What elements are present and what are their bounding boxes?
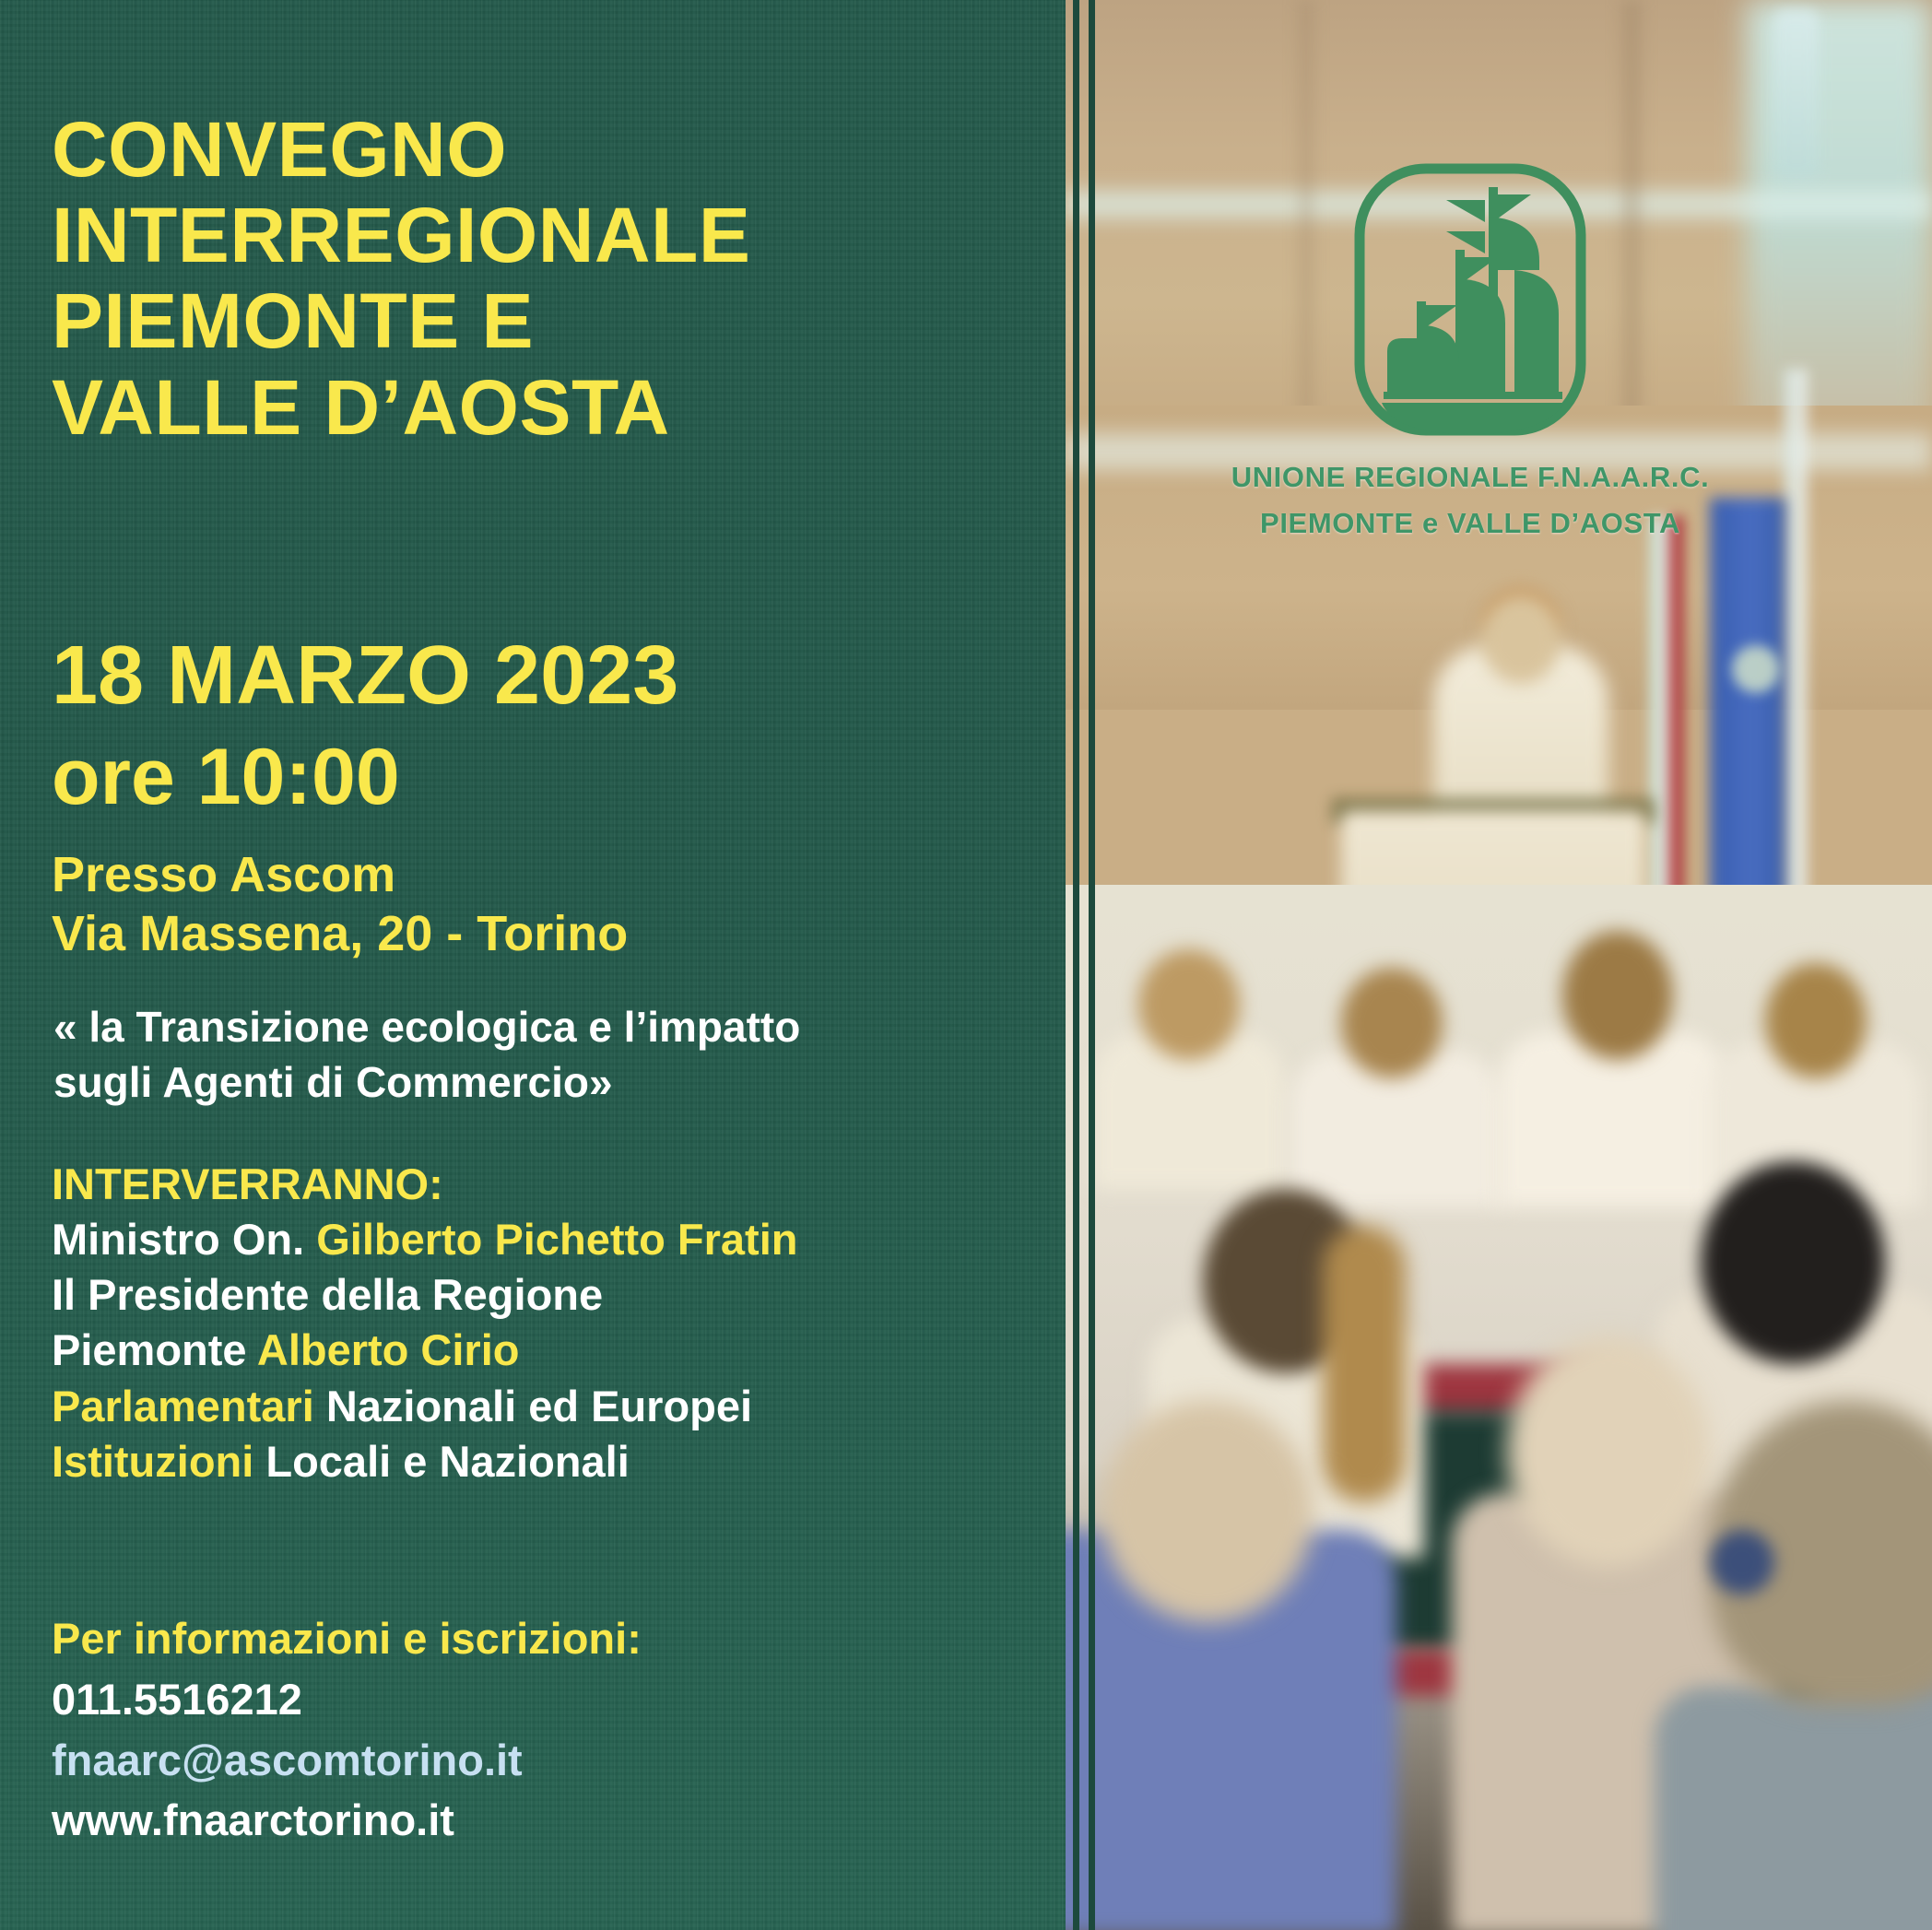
speaker-item: Piemonte Alberto Cirio [52,1323,1056,1378]
speaker-suffix: Locali e Nazionali [253,1437,629,1486]
speaker-name: Alberto Cirio [257,1325,520,1374]
fnaarc-logo: UNIONE REGIONALE F.N.A.A.R.C. PIEMONTE e… [1032,161,1908,540]
photo-attendee [1765,963,1867,1078]
speaker-role: Piemonte [52,1325,257,1374]
logo-line-1: UNIONE REGIONALE F.N.A.A.R.C. [1032,461,1908,494]
title-line-3: PIEMONTE E [52,277,534,364]
photo-speaker-head [1481,595,1561,684]
contact-website[interactable]: www.fnaarctorino.it [52,1790,1029,1851]
contact-heading: Per informazioni e iscrizioni: [52,1608,1029,1669]
speaker-name: Parlamentari [52,1382,314,1430]
contact-block: Per informazioni e iscrizioni: 011.55162… [52,1608,1029,1851]
photo-attendee-hair [1323,1226,1406,1502]
event-time: ore 10:00 [52,737,1029,817]
speaker-role: Ministro On. [52,1215,316,1264]
photo-attendee [1655,1687,1932,1930]
speaker-item: Istituzioni Locali e Nazionali [52,1434,1056,1489]
speaker-name: Gilberto Pichetto Fratin [316,1215,797,1264]
photo-eu-flag [1710,498,1785,931]
event-venue: Presso Ascom Via Massena, 20 - Torino [52,846,1029,963]
venue-line-2: Via Massena, 20 - Torino [52,906,628,961]
photo-attendee [1507,1336,1710,1567]
photo-attendee [1101,1401,1314,1622]
title-line-1: CONVEGNO [52,106,507,193]
contact-phone[interactable]: 011.5516212 [52,1669,1029,1730]
green-info-panel: CONVEGNO INTERREGIONALE PIEMONTE E VALLE… [0,0,1066,1930]
speaker-role: Il Presidente della Regione [52,1270,603,1319]
title-line-4: VALLE D’AOSTA [52,364,670,451]
photo-attendee [1562,931,1673,1060]
speakers-heading: INTERVERRANNO: [52,1157,1056,1212]
topic-line-1: « la Transizione ecologica e l’impatto [53,1003,800,1051]
speaker-suffix: Nazionali ed Europei [314,1382,752,1430]
event-poster: CONVEGNO INTERREGIONALE PIEMONTE E VALLE… [0,0,1932,1930]
page-title: CONVEGNO INTERREGIONALE PIEMONTE E VALLE… [52,107,1029,451]
event-topic: « la Transizione ecologica e l’impatto s… [53,1000,1058,1111]
title-line-2: INTERREGIONALE [52,192,750,278]
logo-line-2: PIEMONTE e VALLE D’AOSTA [1032,507,1908,540]
speakers-list: INTERVERRANNO: Ministro On. Gilberto Pic… [52,1157,1056,1489]
photo-attendee [1138,949,1240,1060]
contact-email[interactable]: fnaarc@ascomtorino.it [52,1730,1029,1791]
photo-attendee [1701,1161,1885,1364]
speaker-item: Il Presidente della Regione [52,1267,1056,1323]
sailing-ship-icon [1350,426,1590,441]
speaker-name: Istituzioni [52,1437,253,1486]
photo-attendee [1341,968,1443,1078]
photo-attendee-glasses [1710,1530,1774,1595]
photo-bottle [1774,9,1819,180]
speaker-item: Ministro On. Gilberto Pichetto Fratin [52,1212,1056,1267]
venue-line-1: Presso Ascom [52,847,395,902]
photo-eu-flag-stars [1732,645,1780,693]
topic-line-2: sugli Agenti di Commercio» [53,1058,613,1106]
event-date: 18 MARZO 2023 [52,634,1029,717]
speaker-item: Parlamentari Nazionali ed Europei [52,1379,1056,1434]
